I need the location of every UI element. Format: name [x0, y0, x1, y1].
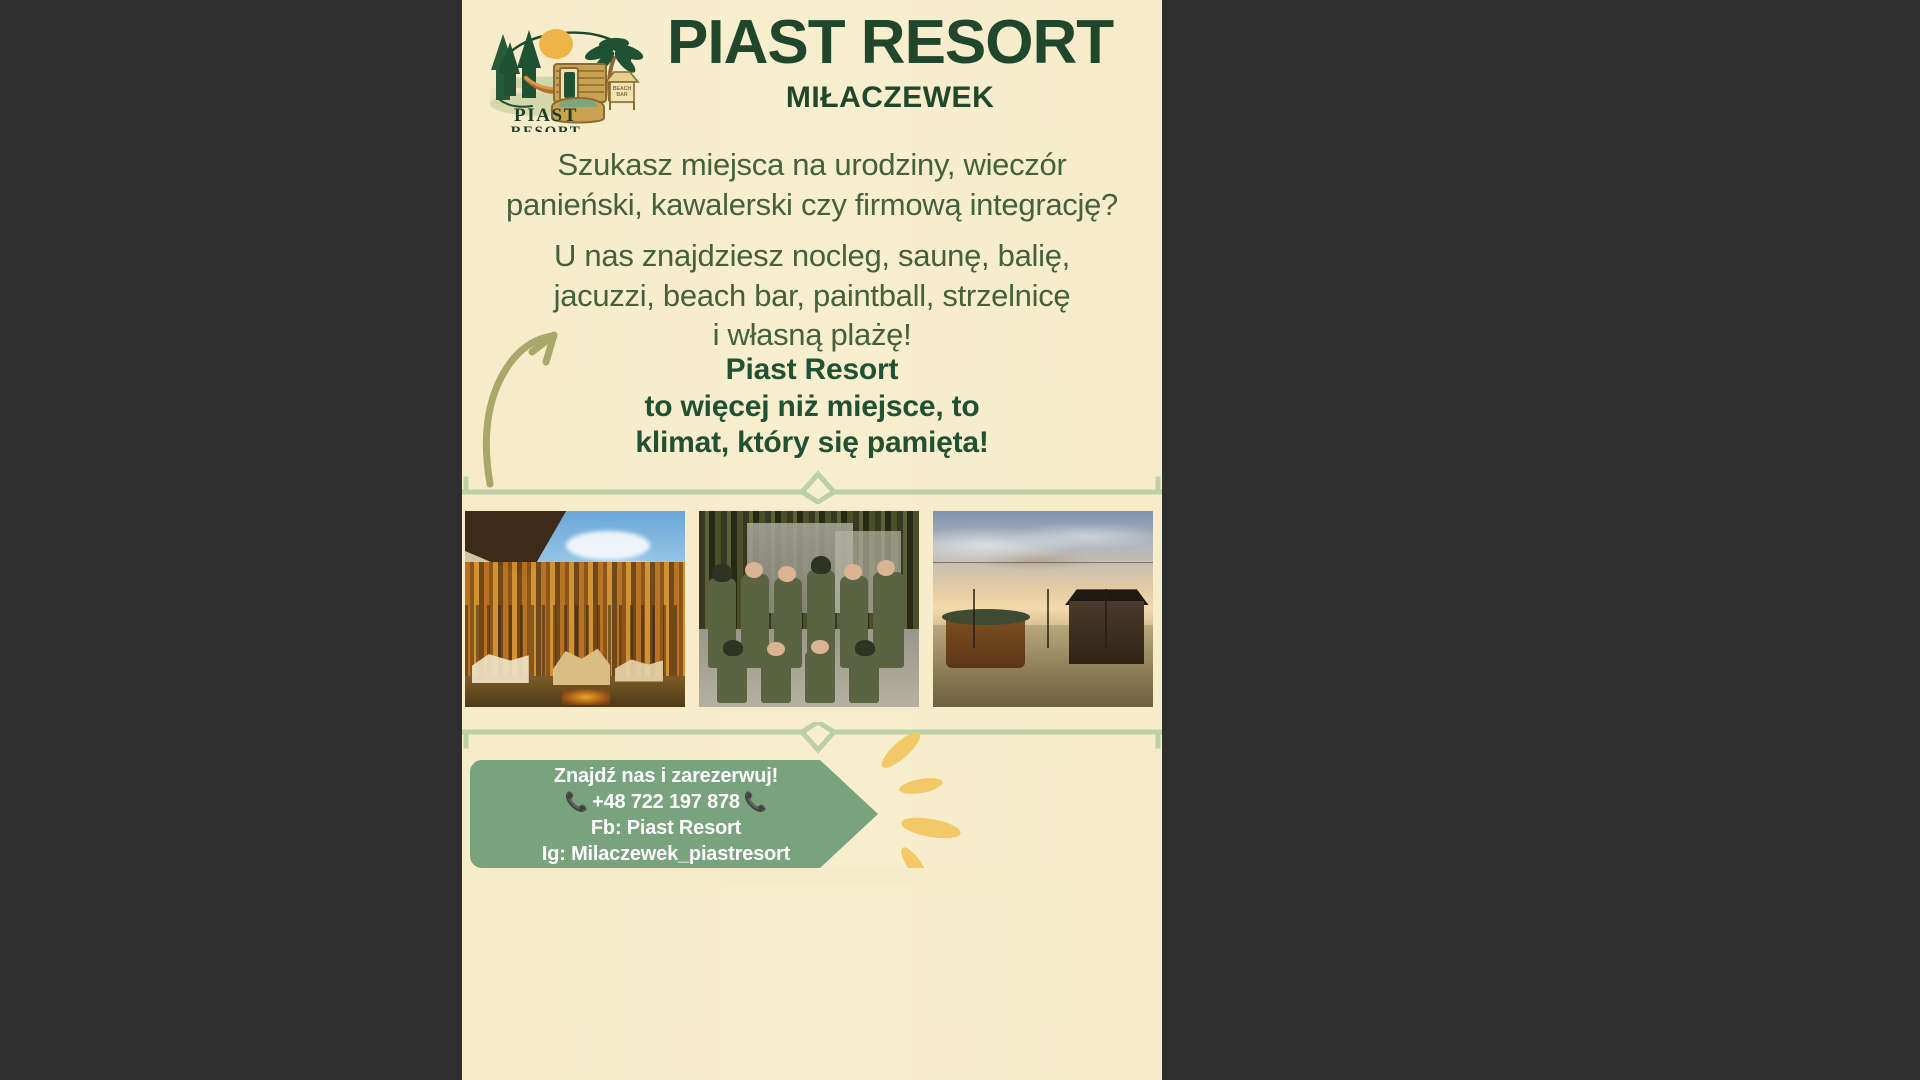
contact-banner-text: Znajdź nas i zarezerwuj! 📞 +48 722 197 8…: [470, 760, 862, 868]
intro-line-2: panieński, kawalerski czy firmową integr…: [462, 185, 1162, 225]
bracket-diamond-divider-bottom: [462, 722, 1162, 756]
offer-line-2: jacuzzi, beach bar, paintball, strzelnic…: [462, 276, 1162, 316]
contact-phone[interactable]: +48 722 197 878: [592, 789, 740, 815]
piast-resort-flyer: BEACH BAR PIAST RESORT PIAST RESORT MIŁA…: [462, 0, 1162, 1080]
contact-phone-row[interactable]: 📞 +48 722 197 878 📞: [565, 789, 768, 815]
photo-forest-camp: [462, 508, 688, 710]
photo-paintball-team: [696, 508, 922, 710]
contact-facebook[interactable]: Fb: Piast Resort: [591, 815, 741, 841]
piast-resort-logo: BEACH BAR PIAST RESORT: [470, 8, 645, 132]
contact-banner[interactable]: Znajdź nas i zarezerwuj! 📞 +48 722 197 8…: [470, 760, 890, 868]
screen-backdrop: BEACH BAR PIAST RESORT PIAST RESORT MIŁA…: [0, 0, 1920, 1080]
next-card-sliver: [470, 856, 1162, 886]
phone-icon-left: 📞: [565, 793, 588, 812]
contact-heading: Znajdź nas i zarezerwuj!: [554, 763, 778, 789]
title-block: PIAST RESORT MIŁACZEWEK: [667, 8, 1113, 115]
page-title: PIAST RESORT: [667, 14, 1113, 71]
intro-line-1: Szukasz miejsca na urodziny, wieczór: [462, 145, 1162, 185]
offer-line-1: U nas znajdziesz nocleg, saunę, balię,: [462, 236, 1162, 276]
logo-beachbar-label-2: BAR: [616, 92, 627, 98]
logo-caption-resort: RESORT: [511, 124, 582, 132]
photo-hot-tub-sunset: [930, 508, 1156, 710]
bracket-diamond-divider-top: [462, 470, 1162, 504]
poster-header: BEACH BAR PIAST RESORT PIAST RESORT MIŁA…: [462, 8, 1162, 132]
curved-arrow-doodle: [480, 318, 590, 488]
photo-strip: [462, 508, 1162, 710]
page-subtitle: MIŁACZEWEK: [667, 81, 1113, 115]
phone-icon-right: 📞: [744, 793, 767, 812]
logo-caption-piast: PIAST: [514, 105, 578, 126]
intro-paragraph: Szukasz miejsca na urodziny, wieczór pan…: [462, 145, 1162, 224]
